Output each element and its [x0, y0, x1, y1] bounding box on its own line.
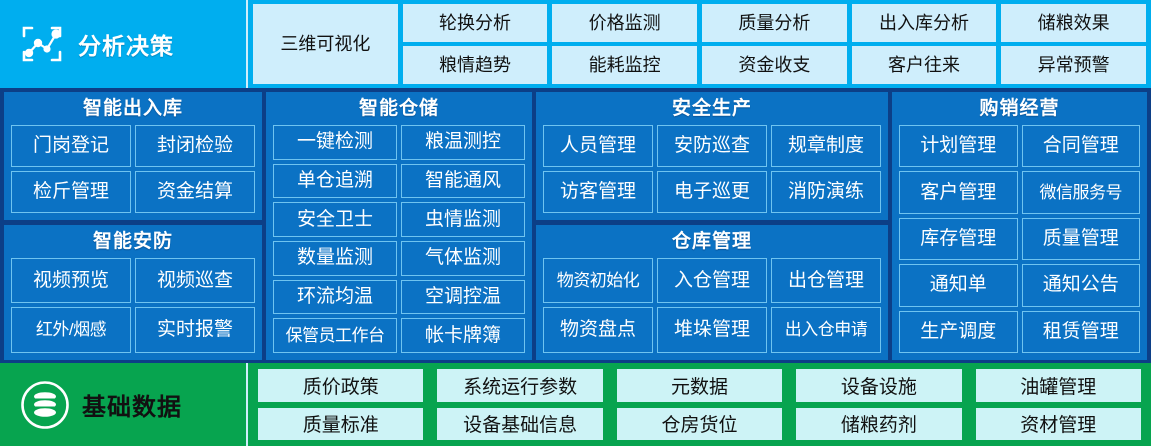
menu-item-material-init[interactable]: 物资初始化 — [543, 258, 653, 304]
analysis-button-storage[interactable]: 储粮效果 — [1001, 4, 1146, 42]
menu-item-video-preview[interactable]: 视频预览 — [11, 258, 131, 304]
panel-title-smart-storage: 智能仓储 — [273, 99, 525, 120]
menu-item-account-card[interactable]: 帐卡牌簿 — [401, 318, 525, 353]
analysis-button-alert[interactable]: 异常预警 — [1001, 46, 1146, 84]
analysis-button-energy[interactable]: 能耗监控 — [552, 46, 697, 84]
menu-item-wechat-service[interactable]: 微信服务号 — [1022, 171, 1141, 213]
column-smart-storage: 智能仓储 一键检测 粮温测控 单仓追溯 智能通风 安全卫士 虫情监测 数量监测 … — [266, 92, 532, 360]
basic-button-quality-standard[interactable]: 质量标准 — [258, 408, 423, 441]
menu-item-plan-manage[interactable]: 计划管理 — [899, 125, 1018, 167]
analysis-button-customer[interactable]: 客户往来 — [852, 46, 997, 84]
menu-item-inbound-manage[interactable]: 入仓管理 — [657, 258, 767, 304]
analysis-decision-section: 分析决策 三维可视化 轮换分析 价格监测 质量分析 出入库分析 储粮效果 粮情趋… — [0, 0, 1151, 88]
panel-warehouse-manage: 仓库管理 物资初始化 入仓管理 出仓管理 物资盘点 堆垛管理 出入仓申请 — [536, 225, 888, 360]
analysis-button-inout[interactable]: 出入库分析 — [852, 4, 997, 42]
menu-item-e-patrol[interactable]: 电子巡更 — [657, 171, 767, 213]
menu-item-staff-manage[interactable]: 人员管理 — [543, 125, 653, 167]
menu-item-grain-temp[interactable]: 粮温测控 — [401, 125, 525, 160]
basic-button-equipment-info[interactable]: 设备基础信息 — [437, 408, 602, 441]
panel-grid-sales-operation: 计划管理 合同管理 客户管理 微信服务号 库存管理 质量管理 通知单 通知公告 … — [899, 125, 1140, 353]
menu-item-pest-monitor[interactable]: 虫情监测 — [401, 202, 525, 237]
menu-item-smart-ventilate[interactable]: 智能通风 — [401, 164, 525, 199]
basic-data-button-grid: 质价政策 系统运行参数 元数据 设备设施 油罐管理 质量标准 设备基础信息 仓房… — [248, 363, 1151, 446]
panel-grid-warehouse-manage: 物资初始化 入仓管理 出仓管理 物资盘点 堆垛管理 出入仓申请 — [543, 258, 881, 353]
menu-item-contract-manage[interactable]: 合同管理 — [1022, 125, 1141, 167]
menu-item-infrared-smoke[interactable]: 红外/烟感 — [11, 307, 131, 353]
basic-data-brand: 基础数据 — [0, 363, 248, 446]
menu-item-fund-settle[interactable]: 资金结算 — [135, 171, 255, 213]
menu-item-inventory-manage[interactable]: 库存管理 — [899, 218, 1018, 260]
menu-item-safety-guard[interactable]: 安全卫士 — [273, 202, 397, 237]
panel-smart-inout: 智能出入库 门岗登记 封闭检验 检斤管理 资金结算 — [4, 92, 262, 220]
analysis-button-rotation[interactable]: 轮换分析 — [403, 4, 548, 42]
menu-item-keeper-desk[interactable]: 保管员工作台 — [273, 318, 397, 353]
menu-item-weigh-manage[interactable]: 检斤管理 — [11, 171, 131, 213]
basic-button-oil-tank[interactable]: 油罐管理 — [976, 369, 1141, 402]
basic-button-price-policy[interactable]: 质价政策 — [258, 369, 423, 402]
menu-item-notice-announce[interactable]: 通知公告 — [1022, 264, 1141, 306]
analysis-button-price[interactable]: 价格监测 — [552, 4, 697, 42]
menu-item-security-patrol[interactable]: 安防巡查 — [657, 125, 767, 167]
menu-item-fire-drill[interactable]: 消防演练 — [771, 171, 881, 213]
column-production-warehouse: 安全生产 人员管理 安防巡查 规章制度 访客管理 电子巡更 消防演练 仓库管理 … — [536, 92, 888, 360]
analysis-button-grid: 三维可视化 轮换分析 价格监测 质量分析 出入库分析 储粮效果 粮情趋势 能耗监… — [248, 0, 1151, 88]
basic-data-section: 基础数据 质价政策 系统运行参数 元数据 设备设施 油罐管理 质量标准 设备基础… — [0, 363, 1151, 446]
menu-item-lease-manage[interactable]: 租赁管理 — [1022, 311, 1141, 353]
menu-item-material-inventory[interactable]: 物资盘点 — [543, 307, 653, 353]
menu-item-quality-manage[interactable]: 质量管理 — [1022, 218, 1141, 260]
panel-grid-safe-production: 人员管理 安防巡查 规章制度 访客管理 电子巡更 消防演练 — [543, 125, 881, 213]
menu-item-visitor-manage[interactable]: 访客管理 — [543, 171, 653, 213]
basic-button-metadata[interactable]: 元数据 — [617, 369, 782, 402]
menu-item-one-key-detect[interactable]: 一键检测 — [273, 125, 397, 160]
basic-data-title: 基础数据 — [82, 387, 182, 422]
menu-item-circulation-temp[interactable]: 环流均温 — [273, 280, 397, 315]
panel-title-warehouse-manage: 仓库管理 — [543, 232, 881, 253]
menu-item-notice-order[interactable]: 通知单 — [899, 264, 1018, 306]
panel-sales-operation: 购销经营 计划管理 合同管理 客户管理 微信服务号 库存管理 质量管理 通知单 … — [892, 92, 1147, 360]
menu-item-gas-monitor[interactable]: 气体监测 — [401, 241, 525, 276]
column-inout-security: 智能出入库 门岗登记 封闭检验 检斤管理 资金结算 智能安防 视频预览 视频巡查… — [4, 92, 262, 360]
basic-button-material-manage[interactable]: 资材管理 — [976, 408, 1141, 441]
menu-item-single-trace[interactable]: 单仓追溯 — [273, 164, 397, 199]
menu-item-inout-request[interactable]: 出入仓申请 — [771, 307, 881, 353]
menu-item-outbound-manage[interactable]: 出仓管理 — [771, 258, 881, 304]
chart-scatter-icon — [18, 23, 66, 65]
panel-title-smart-inout: 智能出入库 — [11, 99, 255, 120]
panel-safe-production: 安全生产 人员管理 安防巡查 规章制度 访客管理 电子巡更 消防演练 — [536, 92, 888, 220]
menu-item-realtime-alarm[interactable]: 实时报警 — [135, 307, 255, 353]
database-icon — [20, 380, 70, 430]
panel-grid-smart-security: 视频预览 视频巡查 红外/烟感 实时报警 — [11, 258, 255, 353]
basic-button-system-params[interactable]: 系统运行参数 — [437, 369, 602, 402]
analysis-brand: 分析决策 — [0, 0, 248, 88]
analysis-title: 分析决策 — [78, 27, 174, 61]
column-sales-operation: 购销经营 计划管理 合同管理 客户管理 微信服务号 库存管理 质量管理 通知单 … — [892, 92, 1147, 360]
basic-button-grain-chemical[interactable]: 储粮药剂 — [796, 408, 961, 441]
analysis-button-trend[interactable]: 粮情趋势 — [403, 46, 548, 84]
panel-title-safe-production: 安全生产 — [543, 99, 881, 120]
panel-grid-smart-inout: 门岗登记 封闭检验 检斤管理 资金结算 — [11, 125, 255, 213]
module-panels-area: 智能出入库 门岗登记 封闭检验 检斤管理 资金结算 智能安防 视频预览 视频巡查… — [0, 88, 1151, 363]
analysis-button-quality[interactable]: 质量分析 — [702, 4, 847, 42]
analysis-button-funds[interactable]: 资金收支 — [702, 46, 847, 84]
menu-item-ac-temp[interactable]: 空调控温 — [401, 280, 525, 315]
menu-item-production-sched[interactable]: 生产调度 — [899, 311, 1018, 353]
menu-item-gate-register[interactable]: 门岗登记 — [11, 125, 131, 167]
dashboard-navigation-map: 分析决策 三维可视化 轮换分析 价格监测 质量分析 出入库分析 储粮效果 粮情趋… — [0, 0, 1151, 446]
panel-title-smart-security: 智能安防 — [11, 232, 255, 253]
menu-item-video-patrol[interactable]: 视频巡查 — [135, 258, 255, 304]
menu-item-regulations[interactable]: 规章制度 — [771, 125, 881, 167]
menu-item-customer-manage[interactable]: 客户管理 — [899, 171, 1018, 213]
analysis-button-3d[interactable]: 三维可视化 — [253, 4, 398, 84]
menu-item-closed-inspect[interactable]: 封闭检验 — [135, 125, 255, 167]
panel-smart-storage: 智能仓储 一键检测 粮温测控 单仓追溯 智能通风 安全卫士 虫情监测 数量监测 … — [266, 92, 532, 360]
panel-smart-security: 智能安防 视频预览 视频巡查 红外/烟感 实时报警 — [4, 225, 262, 360]
panel-title-sales-operation: 购销经营 — [899, 99, 1140, 120]
menu-item-stacking-manage[interactable]: 堆垛管理 — [657, 307, 767, 353]
basic-button-warehouse-slot[interactable]: 仓房货位 — [617, 408, 782, 441]
panel-grid-smart-storage: 一键检测 粮温测控 单仓追溯 智能通风 安全卫士 虫情监测 数量监测 气体监测 … — [273, 125, 525, 353]
basic-button-equipment[interactable]: 设备设施 — [796, 369, 961, 402]
menu-item-quantity-monitor[interactable]: 数量监测 — [273, 241, 397, 276]
